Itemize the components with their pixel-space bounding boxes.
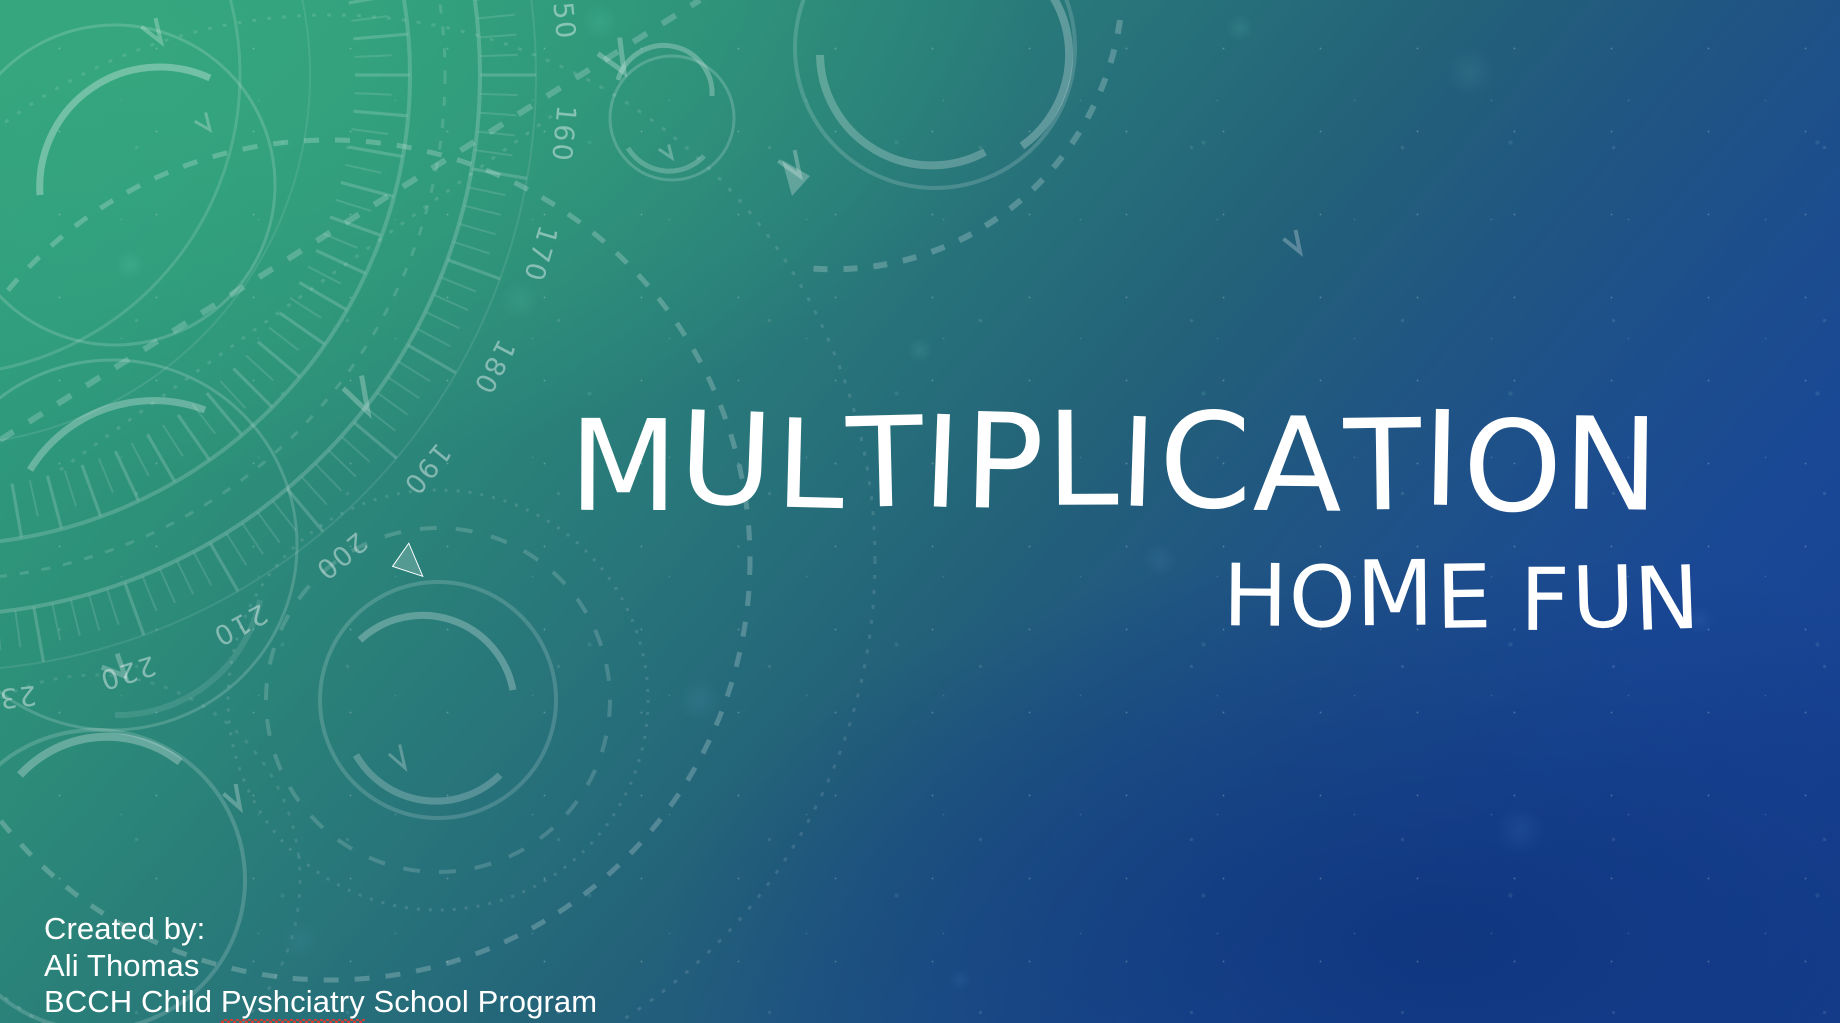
credits-line-created-by: Created by:: [44, 911, 597, 948]
credits-org-misspelled-word: Pyshciatry: [221, 984, 365, 1021]
credits-line-author: Ali Thomas: [44, 948, 597, 985]
svg-text:220: 220: [95, 649, 159, 696]
svg-text:200: 200: [309, 526, 373, 587]
svg-text:160: 160: [545, 104, 581, 164]
credits-line-organization: BCCH Child Pyshciatry School Program: [44, 984, 597, 1021]
concentric-circles-top-right: [795, 0, 1075, 188]
credits-block: Created by: Ali Thomas BCCH Child Pyshci…: [44, 911, 597, 1021]
dashed-arc-with-arrow: [782, 20, 1120, 269]
slide-subtitle: HOME FUN: [430, 552, 1700, 642]
svg-text:180: 180: [467, 334, 521, 399]
svg-text:210: 210: [207, 597, 272, 652]
svg-text:150: 150: [544, 0, 581, 42]
slide-title: MULTIPLICATION: [430, 396, 1800, 529]
credits-org-prefix: BCCH Child: [44, 984, 221, 1019]
svg-text:230: 230: [0, 679, 38, 716]
concentric-circles-top-left: [0, 25, 297, 730]
presentation-slide: 140150160170180190200210220230240250260: [0, 0, 1840, 1023]
credits-org-suffix: School Program: [365, 984, 597, 1019]
concentric-circles-top-mid: [610, 45, 734, 180]
svg-text:170: 170: [517, 222, 563, 286]
